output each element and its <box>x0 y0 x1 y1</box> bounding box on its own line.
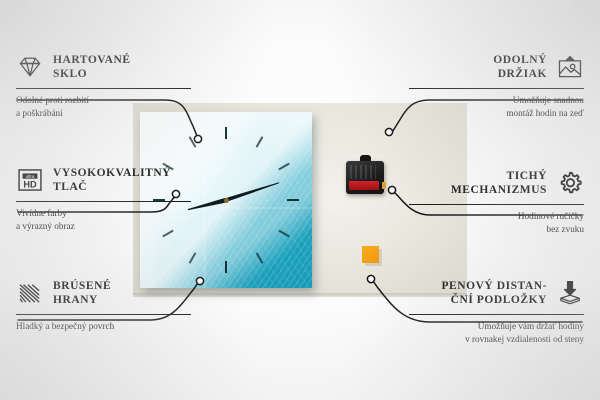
mechanism-label <box>350 165 376 179</box>
feature-foam-spacers: PENOVÝ DISTAN- ČNÍ PODLOŽKY Umožňuje vám… <box>409 276 584 346</box>
feature-description: Hladký a bezpečný povrch <box>16 320 191 333</box>
clock-tick <box>225 261 227 273</box>
feature-divider <box>409 88 584 89</box>
gear-icon <box>556 169 584 197</box>
feature-header: TICHÝ MECHANIZMUS <box>409 166 584 200</box>
clock-center-cap <box>224 198 229 203</box>
feature-durable-holder: ODOLNÝ DRŽIAK Umožňuje snadnou montáž ho… <box>409 50 584 120</box>
feature-description: Umožňuje vám držať hodiny v rovnakej vzd… <box>409 320 584 346</box>
mechanism-body <box>346 161 384 194</box>
clock-tick <box>225 127 227 139</box>
feature-title: TICHÝ MECHANIZMUS <box>451 169 547 197</box>
ultra-hd-icon: ultra HD <box>16 166 44 194</box>
ultra-hd-large-label: HD <box>23 179 37 189</box>
feature-title: HARTOVANÉ SKLO <box>53 53 131 81</box>
clock-mechanism <box>346 161 384 194</box>
feature-divider <box>409 314 584 315</box>
foam-spacer-pad <box>362 246 379 263</box>
ultra-hd-small-label: ultra <box>26 174 35 179</box>
feature-title: ODOLNÝ DRŽIAK <box>493 53 547 81</box>
feature-header: ODOLNÝ DRŽIAK <box>409 50 584 84</box>
feature-description: Umožňuje snadnou montáž hodin na zeď <box>409 94 584 120</box>
feature-description: Hodinové ručičky bez zvuku <box>409 210 584 236</box>
feature-divider <box>16 314 191 315</box>
feature-tempered-glass: HARTOVANÉ SKLO Odolné proti rozbití a po… <box>16 50 191 120</box>
feature-polished-edges: BRÚSENÉ HRANY Hladký a bezpečný povrch <box>16 276 191 333</box>
hatched-edge-icon <box>16 279 44 307</box>
feature-title: BRÚSENÉ HRANY <box>53 279 111 307</box>
feature-header: ultra HD VYSOKOKVALITNÝ TLAČ <box>16 163 191 197</box>
hanging-picture-icon <box>556 53 584 81</box>
feature-description: Vivídne farby a výrazný obraz <box>16 207 191 233</box>
feature-title: PENOVÝ DISTAN- ČNÍ PODLOŽKY <box>441 279 547 307</box>
feature-divider <box>16 201 191 202</box>
foam-pad-press-icon <box>556 279 584 307</box>
feature-divider <box>409 204 584 205</box>
feature-header: BRÚSENÉ HRANY <box>16 276 191 310</box>
feature-header: HARTOVANÉ SKLO <box>16 50 191 84</box>
feature-high-quality-print: ultra HD VYSOKOKVALITNÝ TLAČ Vivídne far… <box>16 163 191 233</box>
battery-terminal <box>382 182 386 189</box>
infographic-canvas: HARTOVANÉ SKLO Odolné proti rozbití a po… <box>0 0 600 400</box>
feature-divider <box>16 88 191 89</box>
diamond-icon <box>16 53 44 81</box>
feature-title: VYSOKOKVALITNÝ TLAČ <box>53 166 171 194</box>
feature-description: Odolné proti rozbití a poškrábání <box>16 94 191 120</box>
feature-header: PENOVÝ DISTAN- ČNÍ PODLOŽKY <box>409 276 584 310</box>
clock-tick <box>287 199 299 201</box>
battery <box>349 181 379 190</box>
feature-silent-mechanism: TICHÝ MECHANIZMUS Hodinové ručičky bez z… <box>409 166 584 236</box>
